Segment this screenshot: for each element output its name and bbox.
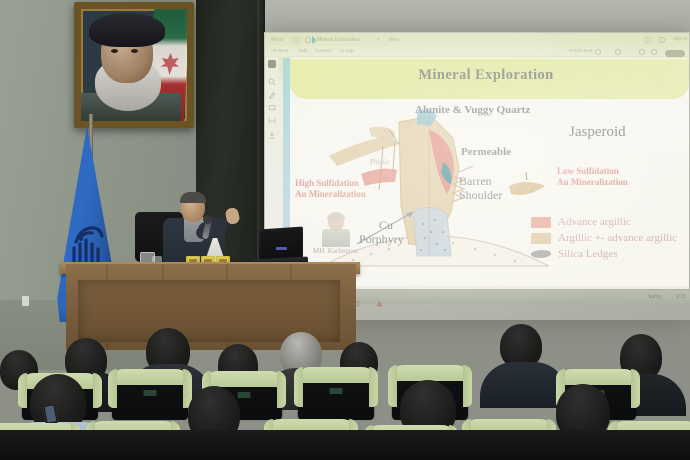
comment-icon[interactable]	[268, 99, 276, 107]
taskbar-weather: Sunny	[648, 294, 662, 300]
author-hair	[327, 212, 345, 220]
slide-title: Mineral Exploration	[283, 67, 689, 84]
search-icon[interactable]	[595, 49, 601, 55]
presentation-slide: Mineral Exploration	[283, 58, 689, 286]
free-trial-button[interactable]	[665, 50, 685, 57]
phone-screen	[45, 405, 57, 422]
label-shoulder: Shoulder	[459, 188, 502, 203]
fill-sign-icon[interactable]	[268, 112, 276, 120]
wall-socket	[22, 296, 29, 306]
highlight-icon[interactable]	[268, 86, 276, 94]
portrait-eye-right	[131, 49, 138, 53]
author-body	[322, 229, 350, 247]
legend-label-advance-argillic: Advance argillic	[558, 216, 631, 228]
legend-lens-silica-ledges	[530, 250, 552, 258]
share-icon[interactable]	[268, 127, 276, 135]
page-thumbnails-icon[interactable]	[268, 60, 276, 68]
author-portrait-inset: MH. Karimpour	[319, 212, 353, 250]
taskbar-clock: 2:15	[676, 294, 686, 300]
label-phyllic: Phyllic	[370, 158, 390, 166]
legend-label-argillic: Argillic +- advance argillic	[558, 232, 677, 244]
legend-row: Advance argillic	[531, 214, 677, 230]
label-porphyry: Porphyry	[359, 232, 404, 247]
audience-chair	[112, 374, 188, 420]
audience-shoulders	[480, 362, 568, 408]
acrobat-icon[interactable]	[376, 294, 383, 301]
new-tab-label[interactable]: New	[389, 37, 399, 43]
browser-tab-title[interactable]: Mineral Exploration	[317, 37, 360, 43]
framed-portrait	[74, 2, 194, 128]
legend-swatch-advance-argillic	[531, 217, 551, 228]
legend-swatch-argillic	[531, 233, 551, 244]
lecture-hall-photo: Menu Mineral Exploration × New All Tools…	[0, 0, 690, 460]
label-alunite-vuggy-quartz: Alunite & Vuggy Quartz	[415, 104, 530, 116]
menu-edit[interactable]: Edit	[299, 48, 307, 53]
laptop-brand-logo	[276, 247, 287, 250]
browser-window: Menu Mineral Exploration × New All Tools…	[265, 33, 689, 289]
close-icon[interactable]: ×	[377, 37, 380, 43]
search-input[interactable]: Search tools	[569, 48, 593, 53]
home-icon[interactable]	[293, 37, 299, 43]
legend-row: Silica Ledges	[531, 246, 677, 262]
bell-icon[interactable]	[639, 49, 645, 55]
microphone-head	[203, 215, 212, 224]
portrait-turban	[89, 13, 165, 47]
sign-in-link[interactable]: Sign in	[673, 36, 687, 41]
account-icon[interactable]	[659, 37, 665, 43]
label-low-sulfidation: Low Sulfidation	[557, 166, 619, 176]
label-permeable: Permeable	[461, 146, 511, 158]
label-low-sulfidation-au: Au Mineralization	[557, 177, 628, 187]
label-high-sulfidation: High Sulfidation	[295, 178, 359, 188]
legend-label-silica-ledges: Silica Ledges	[558, 248, 618, 260]
label-cu: Cu	[379, 218, 393, 233]
audience-chair	[298, 372, 374, 420]
ceiling-band	[264, 0, 690, 32]
help-icon[interactable]	[615, 49, 621, 55]
portrait-eye-left	[111, 49, 118, 53]
slide-legend: Advance argillic Argillic +- advance arg…	[531, 214, 677, 262]
tab-favicon	[305, 37, 311, 43]
menu-esign[interactable]: E-Sign	[341, 48, 355, 53]
menu-convert[interactable]: Convert	[315, 48, 331, 53]
foreground-shadow	[0, 430, 690, 460]
label-jasperoid: Jasperoid	[569, 124, 626, 141]
flag-emblem-icon	[158, 53, 181, 75]
author-credit: MH. Karimpour	[313, 247, 359, 255]
settings-icon[interactable]	[645, 37, 651, 43]
label-barren: Barren	[459, 174, 492, 189]
browser-menu-label[interactable]: Menu	[271, 37, 284, 43]
speaker-hair	[180, 192, 206, 203]
zoom-icon[interactable]	[268, 73, 276, 81]
menu-all-tools[interactable]: All Tools	[271, 48, 288, 53]
apps-icon[interactable]	[651, 49, 657, 55]
legend-row: Argillic +- advance argillic	[531, 230, 677, 246]
label-high-sulfidation-au: Au Mineralization	[295, 189, 366, 199]
